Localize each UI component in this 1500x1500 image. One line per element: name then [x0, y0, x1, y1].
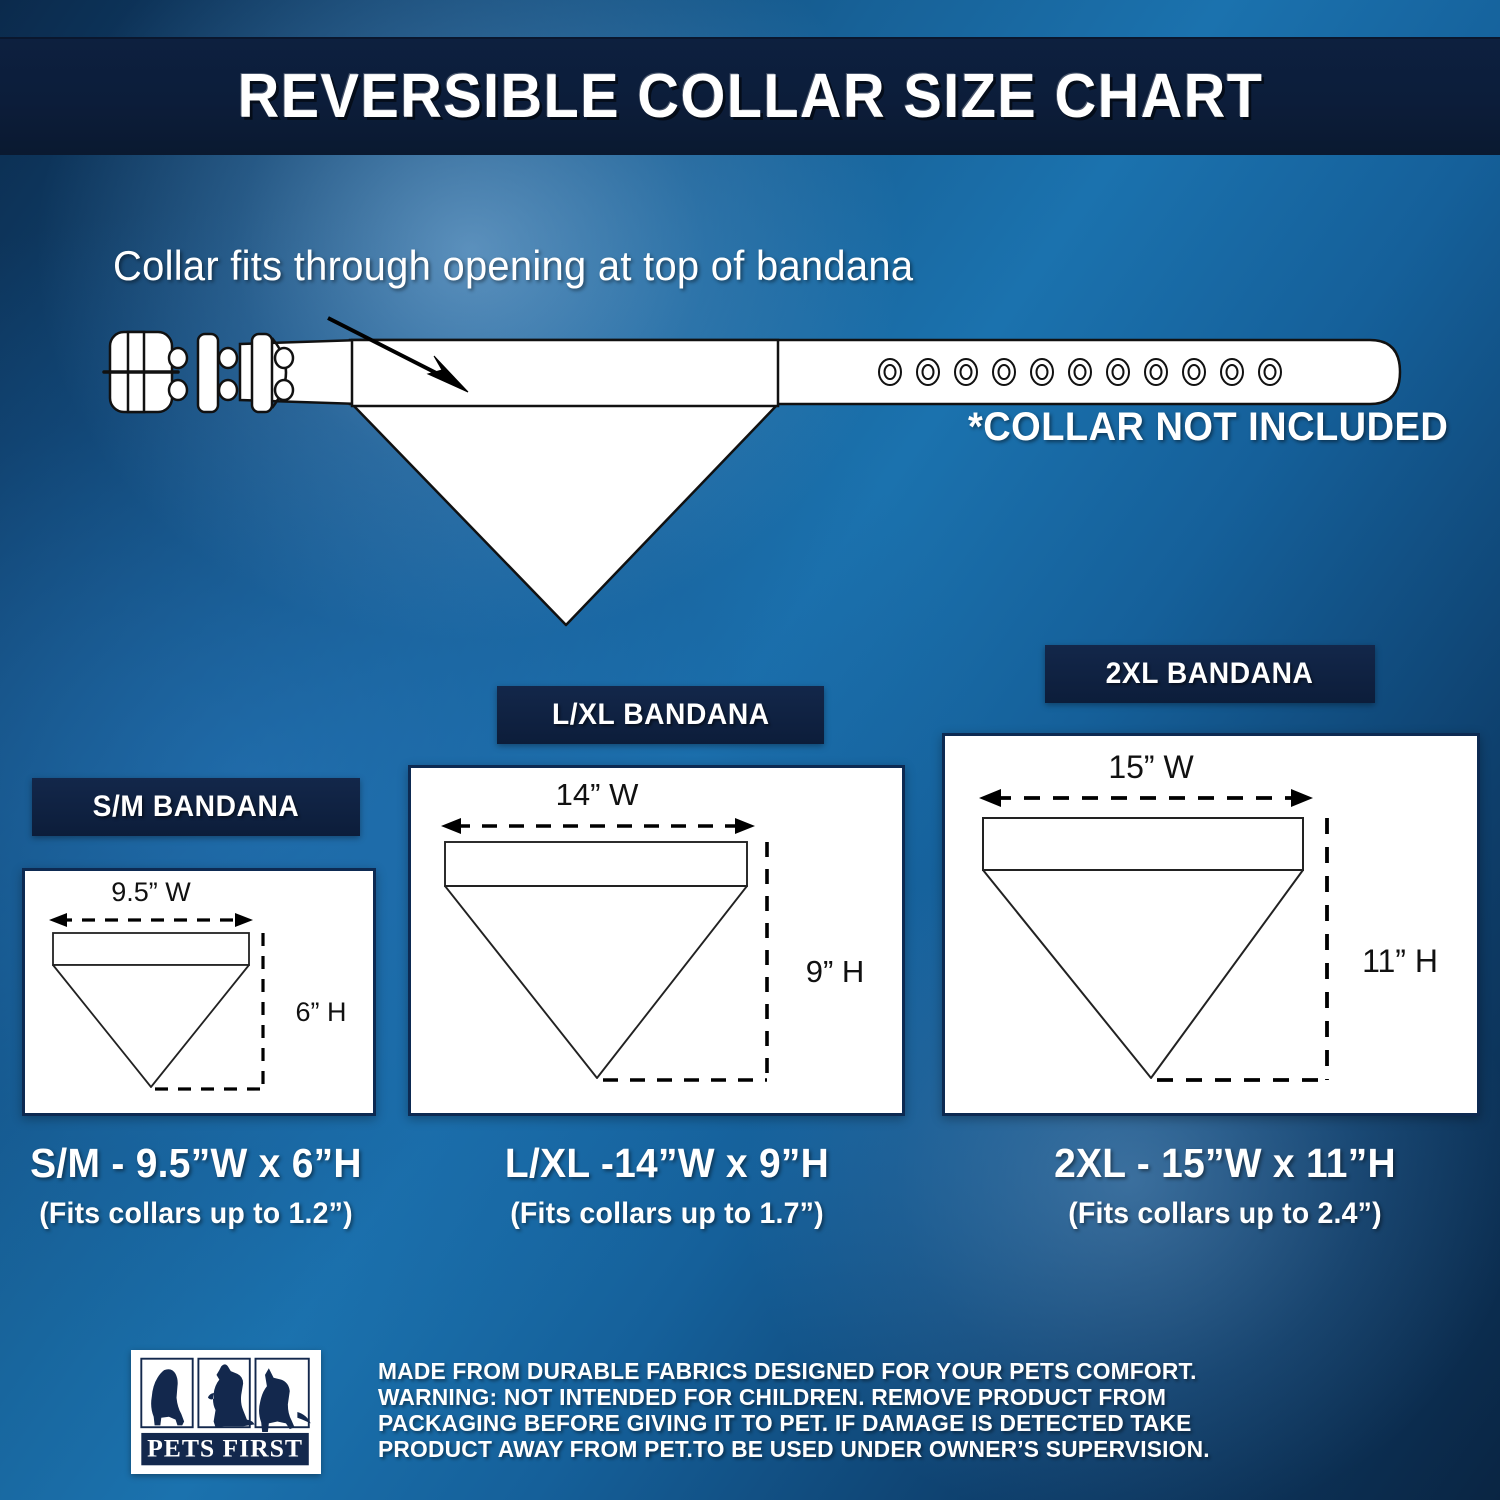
sm-bandana-diagram	[49, 913, 263, 1089]
badge-sm: S/M BANDANA	[32, 778, 360, 836]
badge-lxl: L/XL BANDANA	[497, 686, 824, 744]
badge-2xl-label: 2XL BANDANA	[1106, 657, 1314, 691]
caption-lxl-sub: (Fits collars up to 1.7”)	[458, 1197, 876, 1231]
xxl-width-arrow-left	[979, 789, 1001, 807]
sm-height-label: 6” H	[295, 997, 346, 1027]
hero-caption: Collar fits through opening at top of ba…	[113, 242, 913, 290]
xxl-width-arrow-right	[1291, 789, 1313, 807]
caption-lxl: L/XL -14”W x 9”H (Fits collars up to 1.7…	[447, 1140, 887, 1231]
disclaimer-line-3: PACKAGING BEFORE GIVING IT TO PET. IF DA…	[378, 1410, 1358, 1436]
logo-wordmark: PETS FIRST	[147, 1434, 303, 1463]
hero-bandana-shape	[352, 340, 778, 625]
lxl-width-arrow-right	[735, 818, 755, 834]
header-band: REVERSIBLE COLLAR SIZE CHART	[0, 37, 1500, 155]
sm-width-arrow-right	[235, 913, 253, 927]
caption-sm-sub: (Fits collars up to 1.2”)	[10, 1197, 382, 1231]
pets-first-logo: PETS FIRST	[131, 1350, 321, 1474]
caption-2xl-main: 2XL - 15”W x 11”H	[1011, 1140, 1439, 1187]
card-2xl: 15” W 11” H	[942, 733, 1480, 1116]
sm-width-label: 9.5” W	[111, 877, 191, 907]
disclaimer-text: MADE FROM DURABLE FABRICS DESIGNED FOR Y…	[378, 1358, 1388, 1462]
badge-sm-label: S/M BANDANA	[93, 790, 300, 824]
xxl-height-label: 11” H	[1362, 943, 1438, 979]
card-sm: 9.5” W 6” H	[22, 868, 376, 1116]
xxl-bandana-diagram	[979, 789, 1327, 1080]
caption-sm-main: S/M - 9.5”W x 6”H	[10, 1140, 382, 1187]
lxl-bandana-diagram	[441, 818, 767, 1080]
page-title: REVERSIBLE COLLAR SIZE CHART	[237, 61, 1263, 132]
disclaimer-line-2: WARNING: NOT INTENDED FOR CHILDREN. REMO…	[378, 1384, 1358, 1410]
card-lxl: 14” W 9” H	[408, 765, 905, 1116]
disclaimer-line-4: PRODUCT AWAY FROM PET.TO BE USED UNDER O…	[378, 1436, 1358, 1462]
sm-width-arrow-left	[49, 913, 67, 927]
caption-sm: S/M - 9.5”W x 6”H (Fits collars up to 1.…	[0, 1140, 392, 1231]
lxl-width-label: 14” W	[556, 777, 639, 812]
badge-lxl-label: L/XL BANDANA	[552, 698, 770, 732]
size-chart-page: REVERSIBLE COLLAR SIZE CHART Collar fits…	[0, 0, 1500, 1500]
badge-2xl: 2XL BANDANA	[1045, 645, 1375, 703]
caption-2xl: 2XL - 15”W x 11”H (Fits collars up to 2.…	[1000, 1140, 1450, 1231]
xxl-width-label: 15” W	[1108, 749, 1194, 785]
disclaimer-line-1: MADE FROM DURABLE FABRICS DESIGNED FOR Y…	[378, 1358, 1358, 1384]
lxl-width-arrow-left	[441, 818, 461, 834]
lxl-height-label: 9” H	[806, 954, 865, 989]
caption-2xl-sub: (Fits collars up to 2.4”)	[1011, 1197, 1439, 1231]
hero-collar-bandana-illustration	[0, 300, 1500, 650]
caption-lxl-main: L/XL -14”W x 9”H	[458, 1140, 876, 1187]
